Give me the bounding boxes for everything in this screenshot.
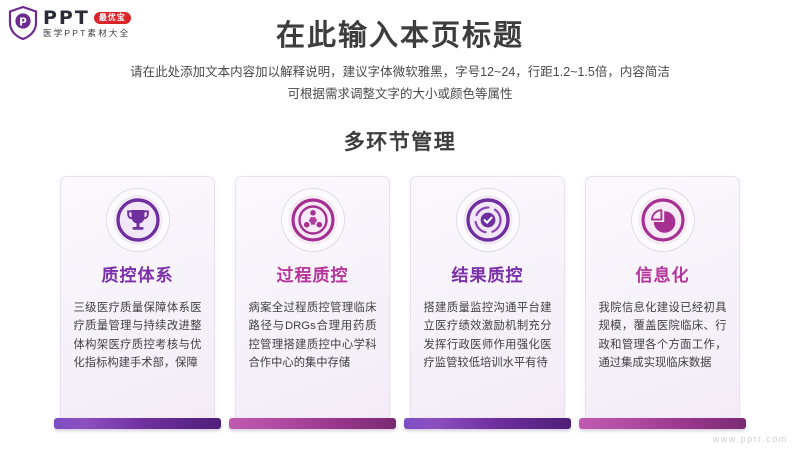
- page-subtitle: 请在此处添加文本内容加以解释说明，建议字体微软雅黑，字号12~24，行距1.2~…: [0, 62, 800, 106]
- cards-row: 质控体系 三级医疗质量保障体系医疗质量管理与持续改进整体构架医疗质控考核与优化指…: [0, 176, 800, 436]
- card-body-panel: 过程质控 病案全过程质控管理临床路径与DRGs合理用药质控管理搭建质控中心学科合…: [235, 176, 390, 419]
- page-title: 在此输入本页标题: [0, 12, 800, 54]
- network-nodes-icon: [288, 195, 338, 245]
- watermark: www.pptr.com: [713, 434, 788, 444]
- card-base-bar: [579, 418, 746, 429]
- card-body-panel: 质控体系 三级医疗质量保障体系医疗质量管理与持续改进整体构架医疗质控考核与优化指…: [60, 176, 215, 419]
- icon-badge: [286, 193, 340, 247]
- pie-chart-icon: [638, 195, 688, 245]
- card-body-panel: 信息化 我院信息化建设已经初具规模，覆盖医院临床、行政和管理各个方面工作，通过集…: [585, 176, 740, 419]
- icon-badge: [111, 193, 165, 247]
- card-title: 质控体系: [102, 267, 174, 284]
- trophy-icon: [113, 195, 163, 245]
- card-base-bar: [54, 418, 221, 429]
- card-base-bar: [229, 418, 396, 429]
- card-body-panel: 结果质控 搭建质量监控沟通平台建立医疗绩效激励机制充分发挥行政医师作用强化医疗监…: [410, 176, 565, 419]
- card-base-bar: [404, 418, 571, 429]
- subtitle-line-1: 请在此处添加文本内容加以解释说明，建议字体微软雅黑，字号12~24，行距1.2~…: [0, 62, 800, 84]
- card-informatization[interactable]: 信息化 我院信息化建设已经初具规模，覆盖医院临床、行政和管理各个方面工作，通过集…: [585, 176, 740, 436]
- icon-badge: [461, 193, 515, 247]
- card-result-control[interactable]: 结果质控 搭建质量监控沟通平台建立医疗绩效激励机制充分发挥行政医师作用强化医疗监…: [410, 176, 565, 436]
- card-title: 过程质控: [277, 267, 349, 284]
- subtitle-line-2: 可根据需求调整文字的大小或颜色等属性: [0, 84, 800, 106]
- card-description: 搭建质量监控沟通平台建立医疗绩效激励机制充分发挥行政医师作用强化医疗监管较低培训…: [424, 299, 552, 372]
- card-title: 信息化: [636, 267, 690, 284]
- card-title: 结果质控: [452, 267, 524, 284]
- card-description: 病案全过程质控管理临床路径与DRGs合理用药质控管理搭建质控中心学科合作中心的集…: [249, 299, 377, 372]
- card-process-control[interactable]: 过程质控 病案全过程质控管理临床路径与DRGs合理用药质控管理搭建质控中心学科合…: [235, 176, 390, 436]
- section-heading: 多环节管理: [0, 126, 800, 156]
- card-description: 我院信息化建设已经初具规模，覆盖医院临床、行政和管理各个方面工作，通过集成实现临…: [599, 299, 727, 372]
- icon-badge: [636, 193, 690, 247]
- card-description: 三级医疗质量保障体系医疗质量管理与持续改进整体构架医疗质控考核与优化指标构建手术…: [74, 299, 202, 372]
- check-circle-icon: [463, 195, 513, 245]
- card-quality-system[interactable]: 质控体系 三级医疗质量保障体系医疗质量管理与持续改进整体构架医疗质控考核与优化指…: [60, 176, 215, 436]
